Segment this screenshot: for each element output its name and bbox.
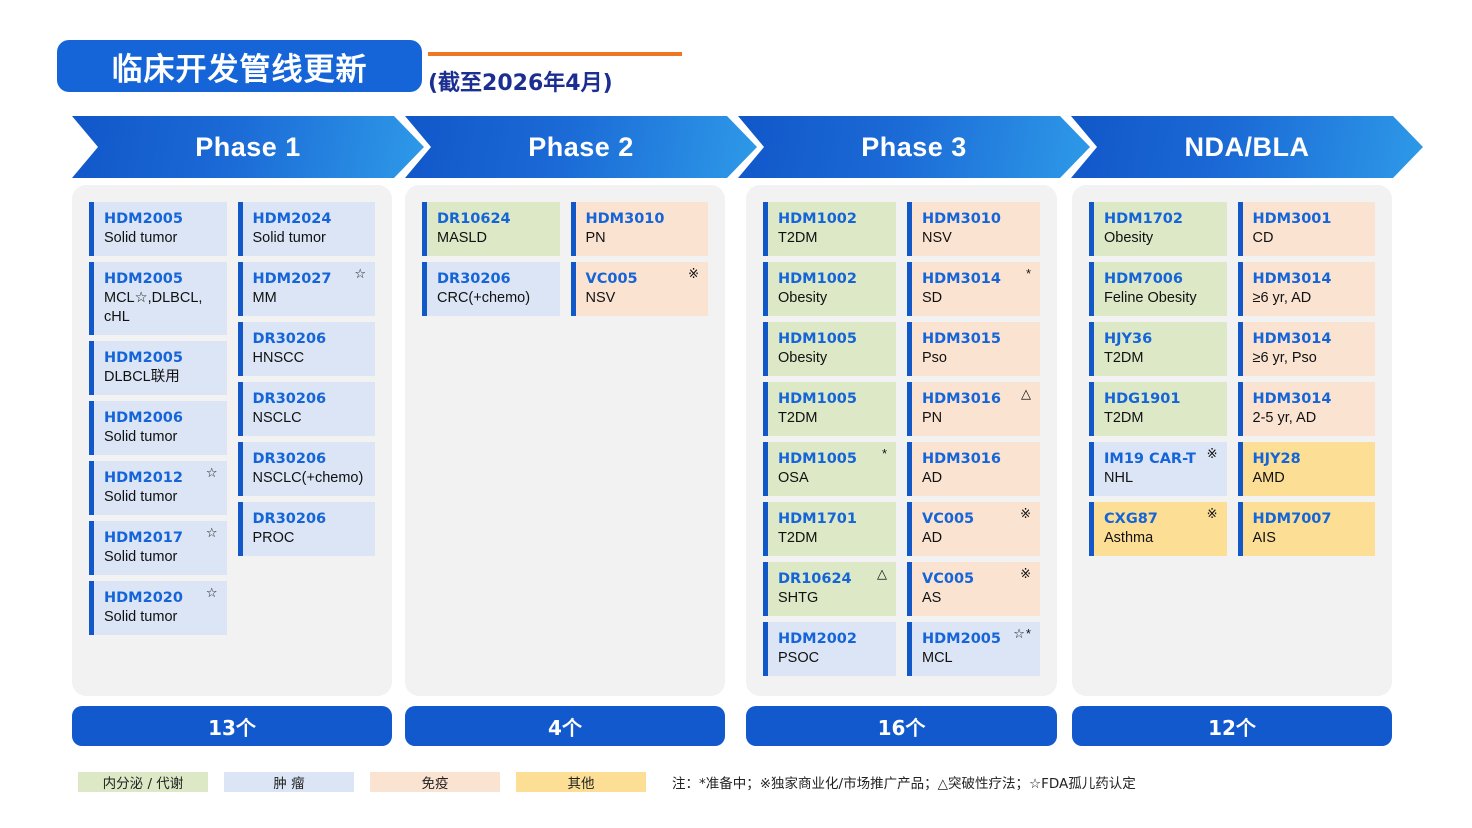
pipeline-card-indication: AS <box>922 589 1031 608</box>
pipeline-card-indication: NSCLC(+chemo) <box>253 469 367 488</box>
pipeline-card-badge-icon: ☆ <box>206 466 219 479</box>
pipeline-card-badge-icon: ☆* <box>1013 627 1032 640</box>
pipeline-card-indication: CRC(+chemo) <box>437 289 551 308</box>
subtitle-underline <box>428 52 682 56</box>
pipeline-card[interactable]: VC005AS※ <box>907 562 1040 616</box>
pipeline-card-indication: NSV <box>922 229 1031 248</box>
count-value: 16个 <box>878 712 926 741</box>
phase-header-label: Phase 3 <box>861 132 967 163</box>
count-badge-phase-1: 13个 <box>72 706 392 746</box>
pipeline-card-indication: T2DM <box>1104 349 1218 368</box>
legend-item-other: 其他 <box>516 772 646 792</box>
pipeline-card-code: HDM2027 <box>253 270 367 288</box>
pipeline-card[interactable]: HDM2002PSOC <box>763 622 896 676</box>
phase-header-nda-bla[interactable]: NDA/BLA <box>1071 116 1423 178</box>
legend-item-endocrine: 内分泌 / 代谢 <box>78 772 208 792</box>
pipeline-card-indication: Solid tumor <box>104 229 218 248</box>
pipeline-card-code: DR30206 <box>253 450 367 468</box>
pipeline-card-badge-icon: ☆ <box>206 586 219 599</box>
pipeline-card-code: HDM1005 <box>778 390 887 408</box>
pipeline-card[interactable]: HJY36T2DM <box>1089 322 1227 376</box>
pipeline-card[interactable]: HDM2005MCL☆* <box>907 622 1040 676</box>
pipeline-card-indication: AD <box>922 469 1031 488</box>
pipeline-card[interactable]: HDM2012Solid tumor☆ <box>89 461 227 515</box>
pipeline-card[interactable]: HDM2027MM☆ <box>238 262 376 316</box>
pipeline-card-code: HDM3014 <box>1253 330 1367 348</box>
pipeline-panel-phase-1: HDM2005Solid tumorHDM2005MCL☆,DLBCL, cHL… <box>72 185 392 696</box>
pipeline-card-indication: Solid tumor <box>253 229 367 248</box>
pipeline-card-indication: T2DM <box>778 229 887 248</box>
pipeline-card-code: HDM3010 <box>922 210 1031 228</box>
card-group-left: DR10624MASLDDR30206CRC(+chemo) <box>422 202 560 679</box>
card-group-right: HDM3010PNVC005NSV※ <box>571 202 709 679</box>
pipeline-card[interactable]: HDM1702Obesity <box>1089 202 1227 256</box>
pipeline-card-code: HDM1002 <box>778 270 887 288</box>
pipeline-card-indication: Obesity <box>778 289 887 308</box>
pipeline-card-code: HDM3014 <box>1253 390 1367 408</box>
pipeline-card[interactable]: HDM2005DLBCL联用 <box>89 341 227 395</box>
phase-header-label: Phase 2 <box>528 132 634 163</box>
page-header: 临床开发管线更新 (截至2026年4月) <box>0 0 1472 112</box>
pipeline-card[interactable]: HDM3014≥6 yr, Pso <box>1238 322 1376 376</box>
pipeline-card[interactable]: HDM30142-5 yr, AD <box>1238 382 1376 436</box>
count-value: 4个 <box>548 712 582 741</box>
count-badge-phase-3: 16个 <box>746 706 1057 746</box>
pipeline-card-code: HDM1005 <box>778 450 887 468</box>
pipeline-card[interactable]: HDM7006Feline Obesity <box>1089 262 1227 316</box>
pipeline-card[interactable]: HJY28AMD <box>1238 442 1376 496</box>
pipeline-card-badge-icon: ☆ <box>206 526 219 539</box>
pipeline-card[interactable]: DR10624SHTG△ <box>763 562 896 616</box>
count-badge-nda-bla: 12个 <box>1072 706 1392 746</box>
pipeline-card-indication: ≥6 yr, Pso <box>1253 349 1367 368</box>
pipeline-card-code: VC005 <box>586 270 700 288</box>
pipeline-card[interactable]: HDM2024Solid tumor <box>238 202 376 256</box>
pipeline-card-code: HDM1701 <box>778 510 887 528</box>
page-title-pill: 临床开发管线更新 <box>57 40 422 92</box>
pipeline-panel-phase-2: DR10624MASLDDR30206CRC(+chemo) HDM3010PN… <box>405 185 725 696</box>
pipeline-card-indication: Solid tumor <box>104 608 218 627</box>
legend-item-immunology: 免疫 <box>370 772 500 792</box>
pipeline-card-indication: SHTG <box>778 589 887 608</box>
pipeline-card-indication: Solid tumor <box>104 488 218 507</box>
pipeline-card-code: HDM3010 <box>586 210 700 228</box>
pipeline-card[interactable]: CXG87Asthma※ <box>1089 502 1227 556</box>
pipeline-card[interactable]: HDG1901T2DM <box>1089 382 1227 436</box>
pipeline-panel-nda-bla: HDM1702ObesityHDM7006Feline ObesityHJY36… <box>1072 185 1392 696</box>
pipeline-card-indication: OSA <box>778 469 887 488</box>
pipeline-card[interactable]: DR30206CRC(+chemo) <box>422 262 560 316</box>
pipeline-card[interactable]: IM19 CAR-TNHL※ <box>1089 442 1227 496</box>
pipeline-card-indication: Pso <box>922 349 1031 368</box>
pipeline-card[interactable]: HDM3001CD <box>1238 202 1376 256</box>
subtitle-date: (截至2026年4月) <box>428 65 682 97</box>
pipeline-card-code: HDM3015 <box>922 330 1031 348</box>
pipeline-card-indication: Obesity <box>778 349 887 368</box>
pipeline-card-code: HJY36 <box>1104 330 1218 348</box>
card-group-right: HDM3001CDHDM3014≥6 yr, ADHDM3014≥6 yr, P… <box>1238 202 1376 679</box>
pipeline-card-code: HDM7007 <box>1253 510 1367 528</box>
pipeline-card[interactable]: HDM1002Obesity <box>763 262 896 316</box>
phase-header-label: NDA/BLA <box>1185 132 1310 163</box>
pipeline-card-badge-icon: △ <box>877 567 888 580</box>
pipeline-card-indication: Feline Obesity <box>1104 289 1218 308</box>
pipeline-card-code: HDM3016 <box>922 450 1031 468</box>
pipeline-card-indication: MCL <box>922 649 1031 668</box>
phase-header-phase-1[interactable]: Phase 1 <box>72 116 424 178</box>
pipeline-card-indication: PN <box>586 229 700 248</box>
pipeline-card-badge-icon: ※ <box>688 267 700 280</box>
pipeline-card-indication: Obesity <box>1104 229 1218 248</box>
pipeline-card-code: HDM2005 <box>104 270 218 288</box>
pipeline-card-code: HDM1002 <box>778 210 887 228</box>
footnote: 注：*准备中；※独家商业化/市场推广产品；△突破性疗法；☆FDA孤儿药认定 <box>672 772 1136 792</box>
pipeline-card-indication: T2DM <box>778 529 887 548</box>
pipeline-card-code: HDM2020 <box>104 589 218 607</box>
pipeline-card-code: HDG1901 <box>1104 390 1218 408</box>
pipeline-card-indication: DLBCL联用 <box>104 368 218 387</box>
pipeline-card-indication: ≥6 yr, AD <box>1253 289 1367 308</box>
pipeline-card-badge-icon: * <box>882 447 888 460</box>
pipeline-card-indication: PSOC <box>778 649 887 668</box>
pipeline-card[interactable]: HDM3014SD* <box>907 262 1040 316</box>
pipeline-card-code: HDM2006 <box>104 409 218 427</box>
pipeline-card-indication: MASLD <box>437 229 551 248</box>
pipeline-card-indication: PN <box>922 409 1031 428</box>
pipeline-card[interactable]: HDM3016AD <box>907 442 1040 496</box>
pipeline-card-code: DR30206 <box>253 330 367 348</box>
pipeline-card-code: HDM3001 <box>1253 210 1367 228</box>
pipeline-card-indication: MCL☆,DLBCL, cHL <box>104 289 218 327</box>
pipeline-card-code: DR10624 <box>437 210 551 228</box>
pipeline-card-code: HDM2005 <box>104 210 218 228</box>
pipeline-card-indication: NSCLC <box>253 409 367 428</box>
pipeline-card-badge-icon: * <box>1026 267 1032 280</box>
pipeline-card-code: HDM3014 <box>922 270 1031 288</box>
pipeline-card[interactable]: HDM3015Pso <box>907 322 1040 376</box>
pipeline-card-indication: PROC <box>253 529 367 548</box>
pipeline-card-badge-icon: ※ <box>1207 447 1219 460</box>
pipeline-card-indication: AIS <box>1253 529 1367 548</box>
card-group-right: HDM3010NSVHDM3014SD*HDM3015PsoHDM3016PN△… <box>907 202 1040 679</box>
pipeline-card[interactable]: HDM2005Solid tumor <box>89 202 227 256</box>
pipeline-card-code: HDM3014 <box>1253 270 1367 288</box>
pipeline-card-code: HDM2012 <box>104 469 218 487</box>
pipeline-card[interactable]: HDM1005OSA* <box>763 442 896 496</box>
page-title: 临床开发管线更新 <box>112 44 368 89</box>
pipeline-card-code: HDM2002 <box>778 630 887 648</box>
pipeline-card-indication: HNSCC <box>253 349 367 368</box>
pipeline-card[interactable]: DR10624MASLD <box>422 202 560 256</box>
card-group-left: HDM1702ObesityHDM7006Feline ObesityHJY36… <box>1089 202 1227 679</box>
pipeline-card-code: DR30206 <box>253 390 367 408</box>
pipeline-card-code: VC005 <box>922 570 1031 588</box>
pipeline-card[interactable]: HDM7007AIS <box>1238 502 1376 556</box>
pipeline-card[interactable]: VC005NSV※ <box>571 262 709 316</box>
pipeline-card[interactable]: DR30206NSCLC(+chemo) <box>238 442 376 496</box>
pipeline-card-code: HDM1005 <box>778 330 887 348</box>
pipeline-card[interactable]: HDM3016PN△ <box>907 382 1040 436</box>
pipeline-card[interactable]: HDM2006Solid tumor <box>89 401 227 455</box>
pipeline-card-code: IM19 CAR-T <box>1104 450 1218 468</box>
pipeline-card-badge-icon: △ <box>1021 387 1032 400</box>
legend-item-oncology: 肿 瘤 <box>224 772 354 792</box>
pipeline-card[interactable]: HDM2005MCL☆,DLBCL, cHL <box>89 262 227 335</box>
count-badge-phase-2: 4个 <box>405 706 725 746</box>
phase-header-phase-3[interactable]: Phase 3 <box>738 116 1090 178</box>
pipeline-card-indication: T2DM <box>1104 409 1218 428</box>
pipeline-card-indication: SD <box>922 289 1031 308</box>
pipeline-card-badge-icon: ※ <box>1020 507 1032 520</box>
pipeline-card[interactable]: HDM3010PN <box>571 202 709 256</box>
pipeline-card-code: HDM2024 <box>253 210 367 228</box>
pipeline-card[interactable]: DR30206NSCLC <box>238 382 376 436</box>
card-group-right: HDM2024Solid tumorHDM2027MM☆DR30206HNSCC… <box>238 202 376 679</box>
pipeline-card-indication: T2DM <box>778 409 887 428</box>
pipeline-card-indication: CD <box>1253 229 1367 248</box>
pipeline-card[interactable]: HDM1002T2DM <box>763 202 896 256</box>
card-group-left: HDM2005Solid tumorHDM2005MCL☆,DLBCL, cHL… <box>89 202 227 679</box>
pipeline-card[interactable]: HDM1005T2DM <box>763 382 896 436</box>
pipeline-card-badge-icon: ※ <box>1207 507 1219 520</box>
phase-header-phase-2[interactable]: Phase 2 <box>405 116 757 178</box>
pipeline-card[interactable]: HDM3014≥6 yr, AD <box>1238 262 1376 316</box>
pipeline-card[interactable]: HDM1701T2DM <box>763 502 896 556</box>
pipeline-card-code: DR30206 <box>253 510 367 528</box>
pipeline-card-code: VC005 <box>922 510 1031 528</box>
pipeline-card[interactable]: VC005AD※ <box>907 502 1040 556</box>
pipeline-card-badge-icon: ☆ <box>354 267 367 280</box>
pipeline-card-code: CXG87 <box>1104 510 1218 528</box>
pipeline-card-code: HDM2005 <box>104 349 218 367</box>
pipeline-card-code: HDM2017 <box>104 529 218 547</box>
pipeline-panel-phase-3: HDM1002T2DMHDM1002ObesityHDM1005ObesityH… <box>746 185 1057 696</box>
pipeline-card-indication: NHL <box>1104 469 1218 488</box>
pipeline-card[interactable]: HDM3010NSV <box>907 202 1040 256</box>
pipeline-card-code: DR10624 <box>778 570 887 588</box>
pipeline-card-indication: Asthma <box>1104 529 1218 548</box>
pipeline-card[interactable]: DR30206PROC <box>238 502 376 556</box>
phase-header-label: Phase 1 <box>195 132 301 163</box>
pipeline-card-indication: Solid tumor <box>104 428 218 447</box>
pipeline-card-code: HDM1702 <box>1104 210 1218 228</box>
pipeline-card-indication: AD <box>922 529 1031 548</box>
pipeline-card-code: HDM7006 <box>1104 270 1218 288</box>
pipeline-card-indication: 2-5 yr, AD <box>1253 409 1367 428</box>
pipeline-card-indication: AMD <box>1253 469 1367 488</box>
count-value: 13个 <box>208 712 256 741</box>
count-value: 12个 <box>1208 712 1256 741</box>
pipeline-card-indication: NSV <box>586 289 700 308</box>
pipeline-card[interactable]: HDM1005Obesity <box>763 322 896 376</box>
pipeline-card-indication: Solid tumor <box>104 548 218 567</box>
legend: 内分泌 / 代谢 肿 瘤 免疫 其他 <box>78 772 662 792</box>
pipeline-card[interactable]: HDM2020Solid tumor☆ <box>89 581 227 635</box>
pipeline-card-code: HDM3016 <box>922 390 1031 408</box>
pipeline-card[interactable]: DR30206HNSCC <box>238 322 376 376</box>
pipeline-card-code: DR30206 <box>437 270 551 288</box>
pipeline-card-indication: MM <box>253 289 367 308</box>
pipeline-card-code: HJY28 <box>1253 450 1367 468</box>
card-group-left: HDM1002T2DMHDM1002ObesityHDM1005ObesityH… <box>763 202 896 679</box>
pipeline-card[interactable]: HDM2017Solid tumor☆ <box>89 521 227 575</box>
subtitle-block: (截至2026年4月) <box>428 52 682 97</box>
pipeline-card-badge-icon: ※ <box>1020 567 1032 580</box>
